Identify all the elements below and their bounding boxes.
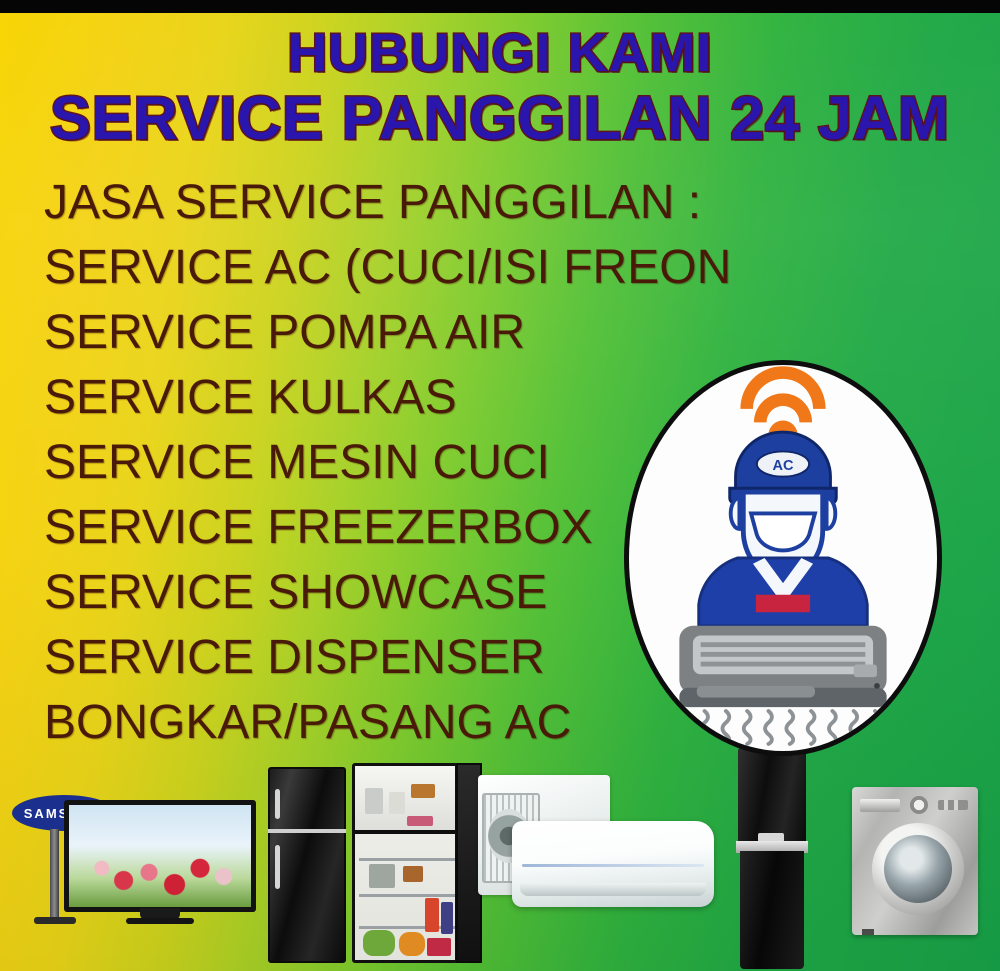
fridge-item-5 — [369, 864, 395, 888]
headline-line-2: SERVICE PANGGILAN 24 JAM — [0, 88, 1000, 149]
wifi-signal-icon — [740, 366, 825, 435]
tv-stand-base — [126, 918, 194, 924]
fridge-item-2 — [389, 792, 405, 814]
dispenser-lower-cabinet — [740, 851, 804, 969]
washer-control-panel — [860, 795, 970, 817]
indoor-unit-accent-stripe — [522, 864, 704, 867]
washing-machine — [852, 787, 978, 935]
fridge-item-4 — [407, 816, 433, 826]
fridge-shelf-1 — [359, 858, 455, 861]
refrigerator-closed — [268, 767, 346, 963]
fridge-handle-top — [275, 789, 280, 819]
television — [64, 800, 256, 918]
fridge-handle-bottom — [275, 845, 280, 889]
washer-foot — [862, 929, 874, 935]
fridge-item-8 — [441, 902, 453, 934]
fridge-item-11 — [427, 938, 451, 956]
indoor-unit-vent — [520, 883, 706, 896]
technician-illustration: AC — [629, 365, 937, 751]
washer-buttons — [938, 800, 968, 810]
water-dispenser — [734, 747, 810, 969]
ac-unit-illustration — [679, 626, 886, 707]
ac-indoor-split-unit — [512, 821, 714, 907]
fridge-item-3 — [411, 784, 435, 798]
service-item-2: SERVICE POMPA AIR — [44, 300, 764, 365]
service-item-3: SERVICE KULKAS — [44, 365, 764, 430]
fridge-shelf-2 — [359, 894, 455, 897]
cap-badge-text: AC — [773, 458, 794, 474]
service-item-1: SERVICE AC (CUCI/ISI FREON — [44, 235, 764, 300]
ac-technician-logo: AC — [624, 360, 942, 756]
service-item-8: BONGKAR/PASANG AC — [44, 690, 764, 755]
sign-pole — [50, 829, 59, 919]
fridge-interior — [352, 763, 458, 963]
fridge-item-1 — [365, 788, 383, 814]
refrigerator-open — [352, 763, 458, 963]
sign-base — [34, 917, 76, 924]
tv-screen-flowers — [64, 800, 256, 912]
fridge-door-divider — [268, 829, 346, 833]
top-black-bar — [0, 0, 1000, 13]
washer-drum-window — [884, 835, 952, 903]
technician-uniform — [699, 558, 868, 626]
fridge-item-6 — [403, 866, 423, 882]
uniform-collar-accent — [756, 595, 810, 612]
washer-program-knob — [910, 796, 928, 814]
washer-detergent-drawer — [860, 799, 900, 812]
headline-line-1: HUBUNGI KAMI — [0, 26, 1000, 80]
headline-block: HUBUNGI KAMI SERVICE PANGGILAN 24 JAM — [0, 26, 1000, 149]
service-item-0: JASA SERVICE PANGGILAN : — [44, 170, 764, 235]
dispenser-upper-cabinet — [738, 747, 806, 843]
service-advertisement-poster: HUBUNGI KAMI SERVICE PANGGILAN 24 JAM JA… — [0, 0, 1000, 971]
fridge-item-7 — [425, 898, 439, 932]
fridge-item-10 — [399, 932, 425, 956]
appliance-strip: SAMSUNG — [0, 745, 1000, 971]
fridge-item-9 — [363, 930, 395, 956]
